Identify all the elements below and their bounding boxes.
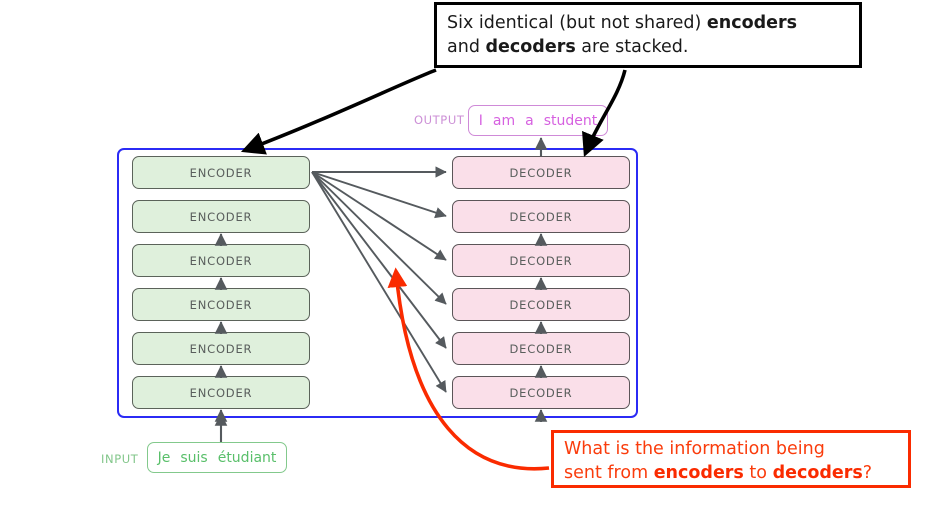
callout-top-line2-post: are stacked. xyxy=(576,37,689,57)
diagram-canvas: Six identical (but not shared) encoders … xyxy=(0,0,943,516)
callout-bottom-bold-decoders: decoders xyxy=(773,463,863,483)
callout-top-line2-bold: decoders xyxy=(486,37,576,57)
encoder-block[interactable]: ENCODER xyxy=(132,156,310,189)
output-token: am xyxy=(488,113,520,129)
input-token: suis xyxy=(175,450,212,466)
callout-top-left-leader-arrow xyxy=(246,70,436,150)
callout-encoders-decoders-stacked: Six identical (but not shared) encoders … xyxy=(434,2,862,68)
encoder-block[interactable]: ENCODER xyxy=(132,200,310,233)
callout-bottom-bold-encoders: encoders xyxy=(654,463,744,483)
output-token: student xyxy=(539,113,603,129)
input-sentence-box: Je suis étudiant xyxy=(147,442,287,473)
callout-bottom-line2-pre: sent from xyxy=(564,463,654,483)
encoder-block[interactable]: ENCODER xyxy=(132,244,310,277)
decoder-block[interactable]: DECODER xyxy=(452,288,630,321)
decoder-block[interactable]: DECODER xyxy=(452,376,630,409)
output-token: I xyxy=(474,113,488,129)
callout-bottom-line2-mid: to xyxy=(744,463,773,483)
encoder-block[interactable]: ENCODER xyxy=(132,376,310,409)
output-label: OUTPUT xyxy=(414,113,464,127)
callout-bottom-line1: What is the information being xyxy=(564,439,825,459)
callout-question-encoder-decoder-info: What is the information being sent from … xyxy=(551,430,911,488)
input-label: INPUT xyxy=(101,452,138,466)
input-token: Je xyxy=(153,450,176,466)
decoder-block[interactable]: DECODER xyxy=(452,244,630,277)
encoder-block[interactable]: ENCODER xyxy=(132,332,310,365)
decoder-block[interactable]: DECODER xyxy=(452,156,630,189)
encoder-block[interactable]: ENCODER xyxy=(132,288,310,321)
output-sentence-box: I am a student xyxy=(468,105,608,136)
callout-bottom-line2-post: ? xyxy=(863,463,872,483)
callout-top-line1-pre: Six identical (but not shared) xyxy=(447,13,707,33)
callout-top-line2-pre: and xyxy=(447,37,486,57)
decoder-stack: DECODER DECODER DECODER DECODER DECODER … xyxy=(452,156,630,409)
encoder-stack: ENCODER ENCODER ENCODER ENCODER ENCODER … xyxy=(132,156,310,409)
decoder-block[interactable]: DECODER xyxy=(452,200,630,233)
decoder-block[interactable]: DECODER xyxy=(452,332,630,365)
callout-top-line1-bold: encoders xyxy=(707,13,797,33)
input-token: étudiant xyxy=(213,450,282,466)
output-token: a xyxy=(520,113,539,129)
